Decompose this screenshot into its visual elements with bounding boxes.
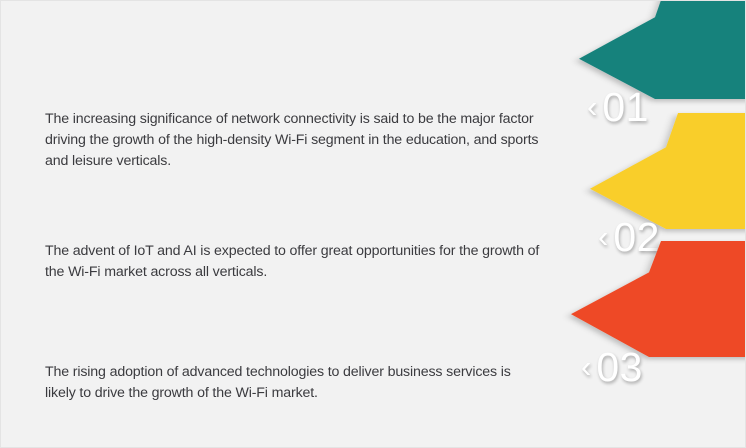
banner-label-03: ‹ 03 xyxy=(581,347,643,388)
chevron-left-icon: ‹ xyxy=(581,351,591,382)
point-text-01: The increasing significance of network c… xyxy=(45,109,545,172)
points-text-column: The increasing significance of network c… xyxy=(1,1,561,447)
point-text-03: The rising adoption of advanced technolo… xyxy=(45,362,545,404)
slide-canvas: The increasing significance of network c… xyxy=(0,0,746,448)
banner-shape-01 xyxy=(567,0,746,99)
banner-shape-02 xyxy=(578,113,746,229)
banner-shape-03 xyxy=(557,241,746,357)
numbered-banner-02[interactable]: ‹ 02 xyxy=(578,113,746,229)
banner-number-03: 03 xyxy=(596,347,643,388)
numbered-banner-03[interactable]: ‹ 03 xyxy=(557,241,746,357)
numbered-banner-01[interactable]: ‹ 01 xyxy=(567,0,746,99)
point-text-02: The advent of IoT and AI is expected to … xyxy=(45,241,545,283)
